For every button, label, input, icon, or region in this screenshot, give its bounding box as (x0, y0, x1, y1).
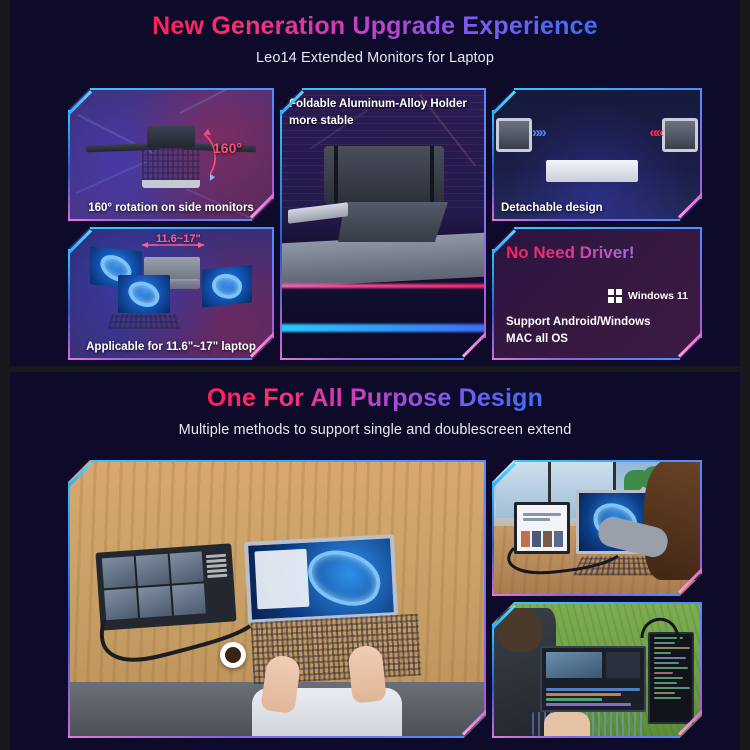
angle-label: 160° (213, 140, 242, 156)
aluminum-holder (338, 202, 448, 242)
section-one-for-all: One For All Purpose Design Multiple meth… (10, 372, 740, 750)
chevron-left-icon: «« (649, 124, 662, 141)
detached-right-monitor (662, 118, 698, 152)
monitor-hinge-strap (334, 146, 338, 204)
windows-badge: Windows 11 (608, 289, 688, 303)
folded-monitor-unit (324, 146, 444, 204)
holder-note-line2: more stable (289, 113, 467, 130)
usb-cable (492, 602, 702, 738)
holder-note-line1: Foldable Aluminum-Alloy Holder (289, 96, 467, 113)
holder-note: Foldable Aluminum-Alloy Holder more stab… (289, 96, 467, 129)
section-one-subtitle: Leo14 Extended Monitors for Laptop (10, 50, 740, 66)
laptop-size-caption: Applicable for 11.6"~17" laptop (68, 341, 274, 353)
outdoor-photo-scene (492, 602, 702, 738)
man-hands (544, 712, 590, 738)
driver-support-line2: MAC all OS (506, 331, 650, 348)
section-two-header: One For All Purpose Design Multiple meth… (10, 372, 740, 438)
usb-cable (492, 460, 702, 596)
product-infographic: New Generation Upgrade Experience Leo14 … (0, 0, 750, 750)
woman-photo-scene (492, 460, 702, 596)
rotation-caption: 160° rotation on side monitors (68, 202, 274, 214)
section-two-title: One For All Purpose Design (207, 384, 543, 413)
section-one-header: New Generation Upgrade Experience Leo14 … (10, 0, 740, 66)
desk-led-blue (280, 324, 486, 332)
coffee-cup (220, 642, 246, 668)
center-monitor-base (546, 160, 638, 182)
photo-outdoor-use (492, 602, 702, 738)
panel-laptop-size: 11.6~17" Applicable for 11.6"~17" laptop (68, 227, 274, 360)
section-new-generation: New Generation Upgrade Experience Leo14 … (10, 0, 740, 366)
windows-logo-icon (608, 289, 622, 303)
windows-badge-label: Windows 11 (628, 290, 688, 302)
panel-holder: Foldable Aluminum-Alloy Holder more stab… (280, 88, 486, 360)
driver-support-line1: Support Android/Windows (506, 314, 650, 331)
center-monitor-unit (550, 114, 634, 160)
monitor-hinge-strap-right (430, 146, 434, 204)
photo-woman-desk (492, 460, 702, 596)
desk-photo-scene (68, 460, 486, 738)
feature-grid: 160° 160° rotation on side monitors (68, 88, 702, 360)
usage-photo-grid (68, 460, 702, 738)
size-label: 11.6~17" (156, 233, 201, 245)
panel-no-need-driver: No Need Driver! Windows 11 Support Andro… (492, 227, 702, 360)
photo-desk-setup (68, 460, 486, 738)
panel-detachable: »» «« Detachable design (492, 88, 702, 221)
desk-led-pink (280, 284, 486, 288)
panel-rotation: 160° 160° rotation on side monitors (68, 88, 274, 221)
detached-left-monitor (496, 118, 532, 152)
driver-support-text: Support Android/Windows MAC all OS (506, 314, 650, 349)
driver-title: No Need Driver! (506, 243, 634, 263)
chevron-right-icon: »» (532, 124, 545, 141)
section-one-title: New Generation Upgrade Experience (152, 12, 598, 41)
detachable-caption: Detachable design (492, 202, 702, 214)
section-two-subtitle: Multiple methods to support single and d… (10, 422, 740, 438)
